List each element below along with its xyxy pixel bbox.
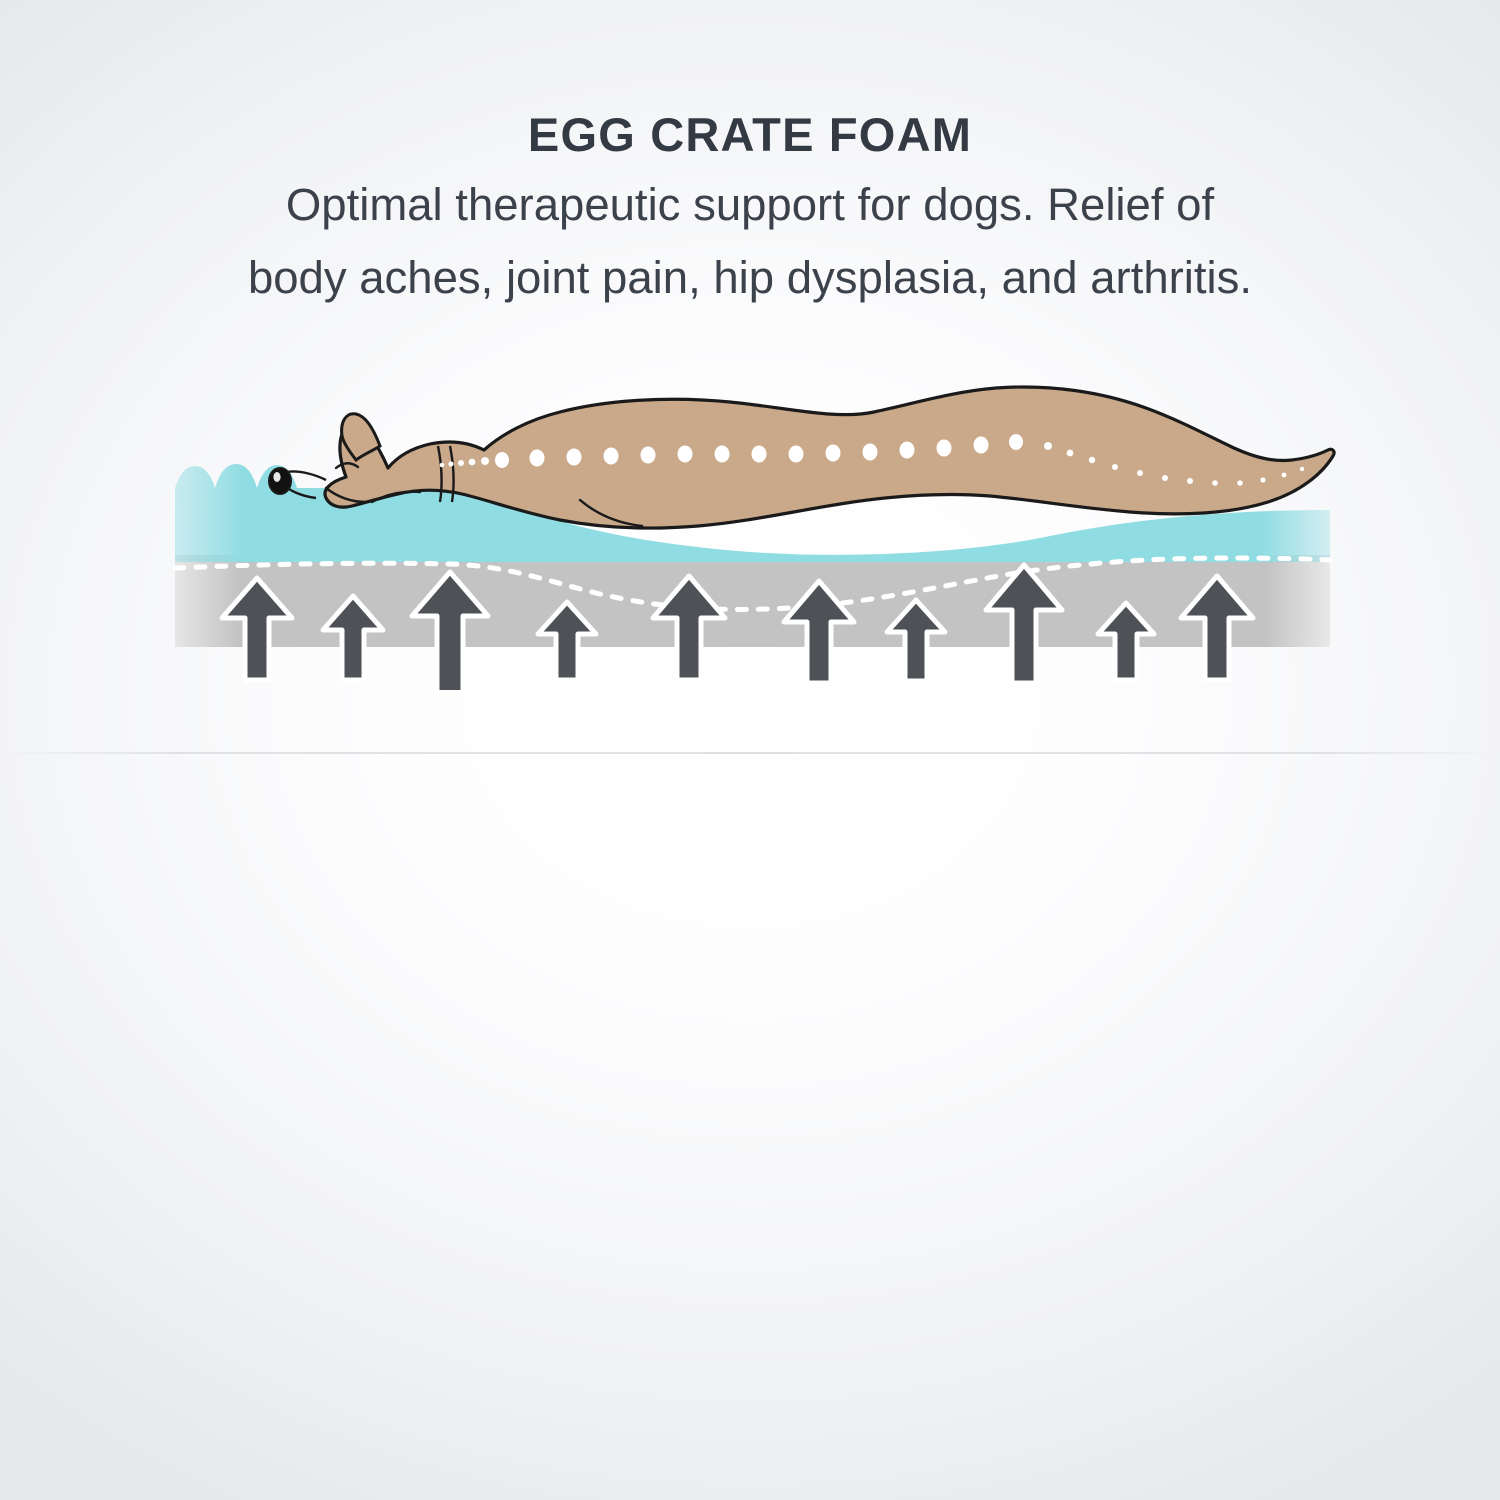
page-title: EGG CRATE FOAM <box>0 107 1500 162</box>
subtitle-line-1: Optimal therapeutic support for dogs. Re… <box>55 168 1445 241</box>
panel-egg-crate-foam: EGG CRATE FOAM Optimal therapeutic suppo… <box>0 0 1500 752</box>
dog-cross-section-illustration <box>150 350 1350 690</box>
subtitle: Optimal therapeutic support for dogs. Re… <box>55 168 1445 314</box>
panel-increased-airflow: INCREASED AIRFLOW <box>0 754 1500 1500</box>
subtitle-line-2: body aches, joint pain, hip dysplasia, a… <box>55 241 1445 314</box>
infographic-page: EGG CRATE FOAM Optimal therapeutic suppo… <box>0 0 1500 1500</box>
dog-nose <box>269 468 291 494</box>
